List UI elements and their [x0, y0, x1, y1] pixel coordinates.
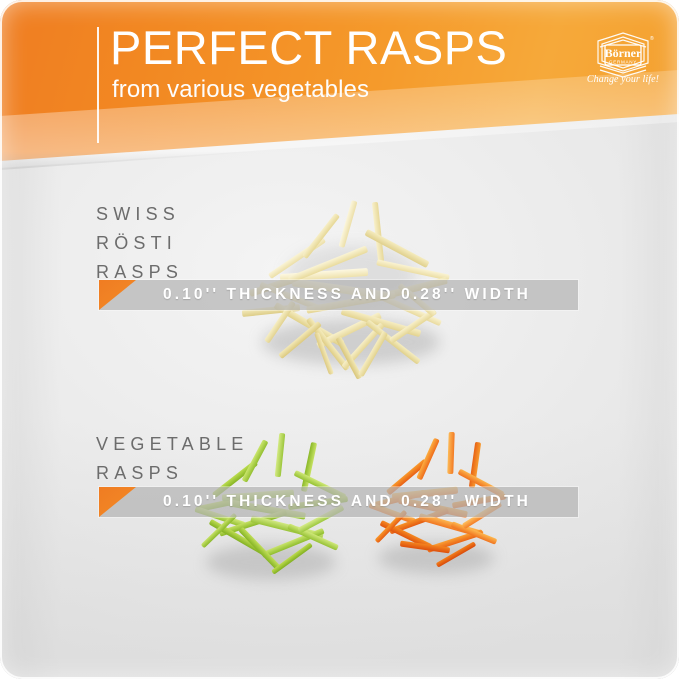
borner-logo-mark: Börner GERMANY ®: [586, 28, 660, 102]
borner-logo-tagline: Change your life!: [586, 74, 660, 85]
product-poster: PERFECT RASPS from various vegetables Bö…: [0, 0, 679, 679]
measurement-text: 0.10'' THICKNESS AND 0.28'' WIDTH: [136, 286, 578, 304]
svg-text:GERMANY: GERMANY: [609, 60, 637, 65]
section-label-line: RÖSTI: [96, 229, 183, 258]
title-accent-rule: [97, 27, 99, 143]
section-label-line: SWISS: [96, 200, 183, 229]
svg-text:Börner: Börner: [605, 46, 642, 60]
orange-wedge-icon: [99, 487, 136, 517]
svg-text:®: ®: [650, 35, 654, 42]
page-title: PERFECT RASPS: [110, 23, 507, 72]
section-label-swiss-rosti: SWISS RÖSTI RASPS: [96, 200, 183, 287]
orange-wedge-icon: [99, 280, 136, 310]
measurement-bar-swiss-rosti: 0.10'' THICKNESS AND 0.28'' WIDTH: [99, 280, 578, 310]
borner-logo: Börner GERMANY ®: [586, 28, 660, 102]
measurement-text: 0.10'' THICKNESS AND 0.28'' WIDTH: [136, 493, 578, 511]
page-subtitle: from various vegetables: [112, 76, 369, 104]
measurement-bar-vegetable: 0.10'' THICKNESS AND 0.28'' WIDTH: [99, 487, 578, 517]
